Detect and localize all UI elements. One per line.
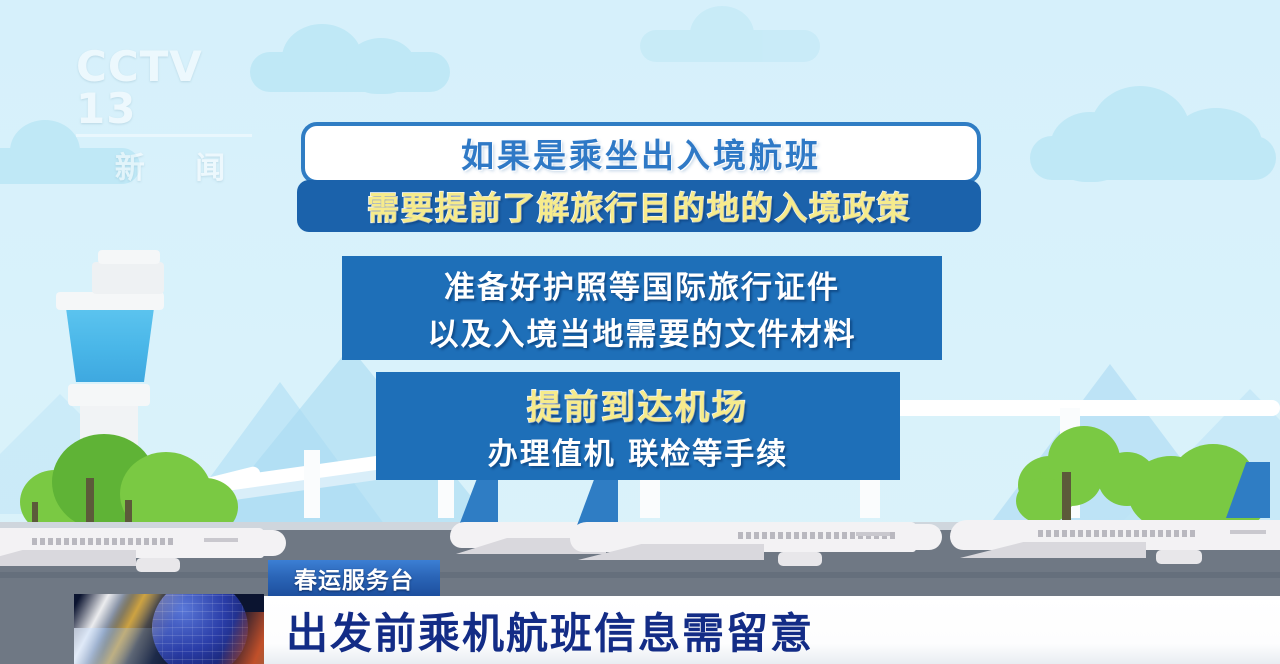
lower-third-kicker: 春运服务台 (268, 560, 440, 596)
lower-third: 春运服务台 出发前乘机航班信息需留意 (0, 560, 1280, 664)
callout-arrive-early-line1: 提前到达机场 (527, 380, 749, 429)
channel-wordmark: CCTV 13 (76, 46, 266, 130)
broadcast-screenshot: CCTV 13 新 闻 如果是乘坐出入境航班 需要提前了解旅行目的地的入境政策 … (0, 0, 1280, 664)
cloud-top-right (1030, 86, 1280, 178)
airplane-left (0, 492, 300, 562)
callout-travel-documents-line1: 准备好护照等国际旅行证件 (444, 262, 840, 307)
lower-third-headline-text: 出发前乘机航班信息需留意 (286, 600, 814, 661)
callout-arrive-early-line2: 办理值机 联检等手续 (488, 429, 788, 473)
cloud-top-left (250, 20, 450, 90)
globe-sweep-highlight (74, 628, 264, 664)
callout-travel-documents: 准备好护照等国际旅行证件 以及入境当地需要的文件材料 (342, 256, 942, 360)
callout-arrive-early: 提前到达机场 办理值机 联检等手续 (376, 372, 900, 480)
channel-logo: CCTV 13 新 闻 (76, 46, 266, 138)
globe-graphic-icon (74, 594, 264, 664)
callout-travel-documents-line2: 以及入境当地需要的文件材料 (428, 309, 857, 354)
callout-entry-policy-text: 需要提前了解旅行目的地的入境政策 (367, 183, 911, 229)
callout-intl-flight-condition-text: 如果是乘坐出入境航班 (461, 129, 821, 177)
lower-third-headline-bar: 出发前乘机航班信息需留意 (256, 596, 1280, 664)
cloud-upper-mid (640, 6, 820, 60)
callout-intl-flight-condition: 如果是乘坐出入境航班 (301, 122, 981, 184)
airplane-middle (556, 476, 956, 556)
channel-subtitle: 新 闻 (76, 143, 266, 187)
lower-third-kicker-text: 春运服务台 (294, 561, 414, 595)
logo-underline (76, 134, 252, 137)
callout-entry-policy: 需要提前了解旅行目的地的入境政策 (297, 180, 981, 232)
